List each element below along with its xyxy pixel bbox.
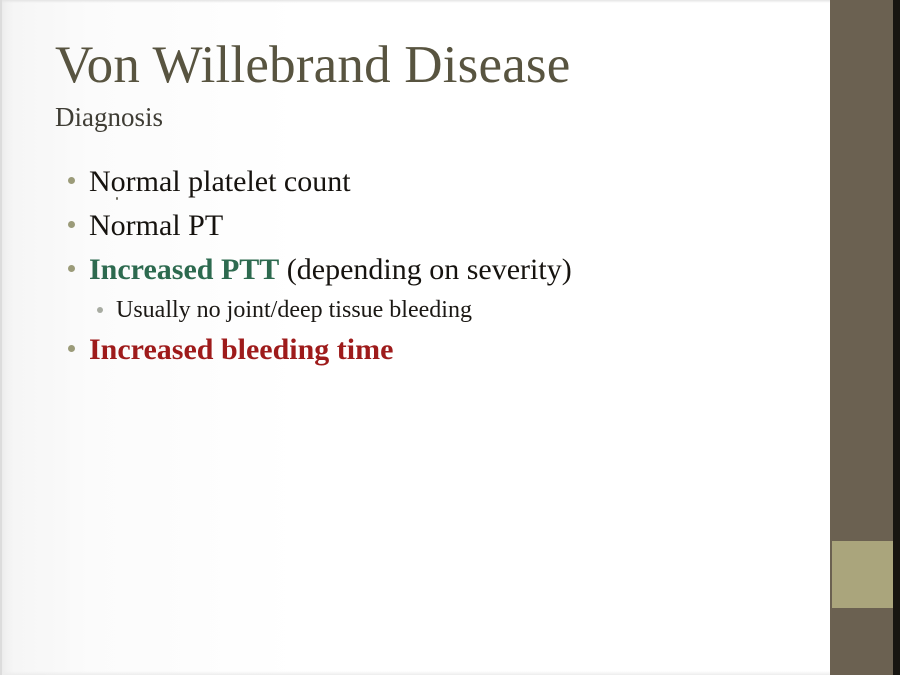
bullet-dot-icon (68, 265, 75, 272)
sub-bullet-item-no-joint-bleeding: Usually no joint/deep tissue bleeding (55, 295, 795, 327)
presentation-slide: Von Willebrand Disease Diagnosis Normal … (0, 0, 900, 675)
slide-title: Von Willebrand Disease (55, 38, 570, 93)
sub-bullet-label: Usually no joint/deep tissue bleeding (116, 295, 795, 325)
bullet-item-normal-pt: Normal PT (55, 207, 795, 245)
bullet-item-increased-ptt: Increased PTT (depending on severity) (55, 251, 795, 289)
bullet-dot-icon (68, 221, 75, 228)
stray-speck-artifact (116, 197, 118, 200)
bullet-dot-icon (68, 345, 75, 352)
bullet-item-normal-platelet-count: Normal platelet count (55, 163, 795, 201)
bullet-label: Increased PTT (depending on severity) (89, 251, 795, 289)
bullet-label: Increased bleeding time (89, 331, 795, 369)
sub-bullet-dot-icon (97, 307, 103, 313)
bullet-label: Normal PT (89, 207, 795, 245)
slide-subtitle: Diagnosis (55, 103, 163, 133)
slide-right-edge-strip (893, 0, 900, 675)
bullet-item-increased-bleeding-time: Increased bleeding time (55, 331, 795, 369)
bullet-label-highlight-green: Increased PTT (89, 253, 279, 286)
bullet-dot-icon (68, 177, 75, 184)
bullet-label-remainder: (depending on severity) (279, 253, 571, 286)
slide-sidebar-accent-block (832, 541, 893, 608)
slide-left-edge-line (0, 0, 2, 675)
bullet-label: Normal platelet count (89, 163, 795, 201)
slide-bullet-list: Normal platelet count Normal PT Increase… (55, 163, 795, 375)
